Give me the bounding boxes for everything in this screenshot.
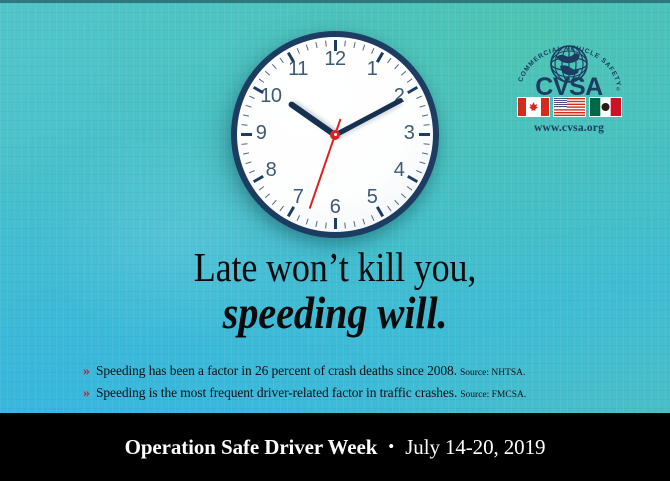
clock-numeral-11: 11 (285, 58, 311, 81)
member-country-flags (508, 97, 630, 117)
clock-center-dot (334, 133, 337, 136)
chevron-double-right-icon: » (83, 365, 90, 379)
clock-numeral-9: 9 (248, 122, 274, 145)
clock-numeral-8: 8 (258, 159, 284, 182)
statistic-source: Source: FMCSA. (460, 390, 526, 400)
cvsa-logo[interactable]: COMMERCIAL VEHICLE SAFETY ALLIANCE CVSA … (508, 34, 630, 142)
canada-flag-icon (517, 97, 550, 117)
poster-canvas: 121234567891011 COMMERCIAL VEHICLE SAFET… (0, 0, 670, 481)
clock-numeral-5: 5 (359, 186, 385, 209)
statistic-row: »Speeding is the most frequent driver-re… (83, 384, 610, 402)
campaign-dates: July 14-20, 2019 (405, 435, 545, 460)
footer-separator-icon: • (388, 437, 394, 457)
statistic-source: Source: NHTSA. (460, 368, 525, 378)
headline: Late won’t kill you, speeding will. (0, 246, 670, 337)
top-edge-strip (0, 0, 670, 3)
mexico-flag-icon (589, 97, 622, 117)
clock-numeral-6: 6 (322, 196, 348, 219)
clock-numeral-12: 12 (322, 48, 348, 71)
statistic-text-wrap: Speeding is the most frequent driver-rel… (96, 384, 526, 402)
wall-clock: 121234567891011 (231, 31, 439, 238)
statistic-text: Speeding has been a factor in 26 percent… (96, 363, 457, 378)
clock-numeral-4: 4 (386, 159, 412, 182)
cvsa-wordmark: CVSA (535, 73, 603, 96)
clock-numeral-10: 10 (258, 85, 284, 108)
united-states-flag-icon (553, 97, 586, 117)
clock-face: 121234567891011 (237, 37, 433, 232)
headline-line-1: Late won’t kill you, (40, 246, 630, 289)
headline-line-2: speeding will. (34, 289, 637, 337)
clock-numeral-7: 7 (285, 186, 311, 209)
footer-bar: Operation Safe Driver Week • July 14-20,… (0, 413, 670, 481)
cvsa-globe-icon: COMMERCIAL VEHICLE SAFETY ALLIANCE CVSA … (508, 34, 630, 96)
statistic-text-wrap: Speeding has been a factor in 26 percent… (96, 362, 525, 380)
campaign-title: Operation Safe Driver Week (125, 435, 378, 460)
statistic-row: »Speeding has been a factor in 26 percen… (83, 362, 610, 380)
clock-numeral-1: 1 (359, 58, 385, 81)
cvsa-website-link[interactable]: www.cvsa.org (508, 122, 630, 134)
cvsa-logo-mark: COMMERCIAL VEHICLE SAFETY ALLIANCE CVSA … (508, 34, 630, 96)
cvsa-registered-mark: ® (616, 86, 620, 93)
statistics-list: »Speeding has been a factor in 26 percen… (83, 362, 610, 406)
statistic-text: Speeding is the most frequent driver-rel… (96, 385, 457, 400)
footer-content: Operation Safe Driver Week • July 14-20,… (125, 435, 546, 460)
chevron-double-right-icon: » (83, 387, 90, 401)
clock-numeral-3: 3 (396, 122, 422, 145)
